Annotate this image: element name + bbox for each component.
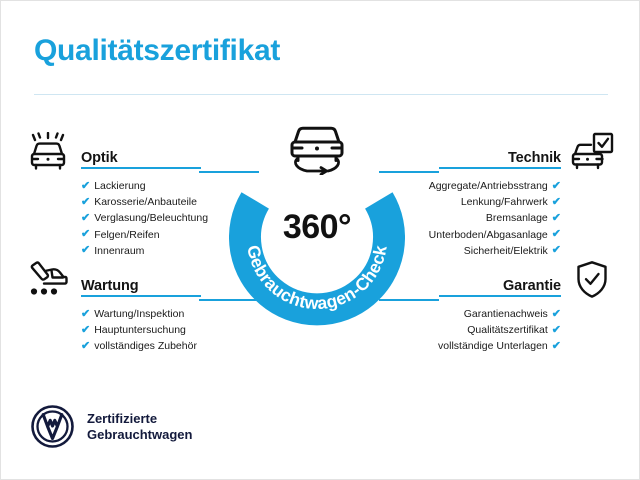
vw-logo	[31, 405, 74, 448]
list-item-label: vollständiges Zubehör	[94, 338, 197, 354]
list-item-label: Lackierung	[94, 178, 145, 194]
list-item-label: Garantienachweis	[464, 306, 548, 322]
check-icon: ✔	[552, 197, 561, 208]
shield-check-icon	[571, 260, 617, 300]
section-header-technik: Technik	[439, 145, 561, 169]
list-item: Qualitätszertifikat✔	[439, 322, 561, 338]
title-divider	[34, 94, 608, 95]
badge-360-gebrauchtwagen-check: Gebrauchtwagen-Check 360°	[229, 151, 405, 327]
check-icon: ✔	[552, 181, 561, 192]
check-icon: ✔	[552, 325, 561, 336]
check-icon: ✔	[552, 213, 561, 224]
section-rule-wartung	[81, 295, 201, 297]
list-item-label: Felgen/Reifen	[94, 227, 159, 243]
check-icon: ✔	[81, 181, 90, 192]
list-item: Sicherheit/Elektrik✔	[439, 243, 561, 259]
certificate-page: Qualitätszertifikat Optik ✔Lackierung ✔K…	[0, 0, 640, 480]
footer-brand: Zertifizierte Gebrauchtwagen	[31, 405, 192, 448]
list-item-label: Qualitätszertifikat	[467, 322, 548, 338]
check-icon: ✔	[81, 245, 90, 256]
page-title: Qualitätszertifikat	[34, 34, 280, 68]
car-shine-icon	[25, 132, 71, 172]
car-checkbox-icon	[569, 132, 615, 172]
list-item-label: Innenraum	[94, 243, 144, 259]
list-item: vollständige Unterlagen✔	[439, 338, 561, 354]
section-title-wartung: Wartung	[81, 278, 139, 294]
list-item-label: Lenkung/Fahrwerk	[461, 194, 548, 210]
section-optik: Optik ✔Lackierung ✔Karosserie/Anbauteile…	[81, 145, 201, 275]
list-item: ✔Lackierung	[81, 178, 201, 194]
section-title-garantie: Garantie	[503, 278, 561, 294]
list-item-label: Verglasung/Beleuchtung	[94, 210, 208, 226]
wrench-car-service-icon	[25, 260, 71, 300]
section-header-garantie: Garantie	[439, 273, 561, 297]
section-list-garantie: Garantienachweis✔ Qualitätszertifikat✔ v…	[439, 306, 561, 355]
check-icon: ✔	[552, 309, 561, 320]
footer-brand-text: Zertifizierte Gebrauchtwagen	[87, 411, 192, 443]
check-icon: ✔	[81, 213, 90, 224]
list-item: ✔Felgen/Reifen	[81, 227, 201, 243]
check-icon: ✔	[552, 245, 561, 256]
section-rule-garantie	[439, 295, 561, 297]
car-rotation-icon	[281, 121, 353, 175]
section-title-optik: Optik	[81, 150, 118, 166]
list-item: Lenkung/Fahrwerk✔	[439, 194, 561, 210]
section-rule-technik	[439, 167, 561, 169]
footer-line-2: Gebrauchtwagen	[87, 427, 192, 443]
list-item-label: vollständige Unterlagen	[438, 338, 548, 354]
list-item-label: Bremsanlage	[486, 210, 548, 226]
section-header-wartung: Wartung	[81, 273, 201, 297]
section-garantie: Garantie Garantienachweis✔ Qualitätszert…	[439, 273, 561, 371]
list-item-label: Unterboden/Abgasanlage	[429, 227, 548, 243]
list-item-label: Wartung/Inspektion	[94, 306, 184, 322]
badge-degree-label: 360°	[229, 208, 405, 247]
list-item: Garantienachweis✔	[439, 306, 561, 322]
list-item-label: Sicherheit/Elektrik	[464, 243, 548, 259]
check-icon: ✔	[81, 197, 90, 208]
list-item: ✔Hauptuntersuchung	[81, 322, 201, 338]
check-icon: ✔	[81, 309, 90, 320]
list-item-label: Karosserie/Anbauteile	[94, 194, 197, 210]
list-item: ✔vollständiges Zubehör	[81, 338, 201, 354]
section-list-optik: ✔Lackierung ✔Karosserie/Anbauteile ✔Verg…	[81, 178, 201, 259]
list-item-label: Aggregate/Antriebsstrang	[429, 178, 548, 194]
list-item: Unterboden/Abgasanlage✔	[439, 227, 561, 243]
list-item: ✔Karosserie/Anbauteile	[81, 194, 201, 210]
list-item: Bremsanlage✔	[439, 210, 561, 226]
section-header-optik: Optik	[81, 145, 201, 169]
check-icon: ✔	[552, 229, 561, 240]
check-icon: ✔	[81, 325, 90, 336]
list-item-label: Hauptuntersuchung	[94, 322, 186, 338]
section-rule-optik	[81, 167, 201, 169]
section-wartung: Wartung ✔Wartung/Inspektion ✔Hauptunters…	[81, 273, 201, 371]
list-item: Aggregate/Antriebsstrang✔	[439, 178, 561, 194]
section-list-technik: Aggregate/Antriebsstrang✔ Lenkung/Fahrwe…	[439, 178, 561, 259]
check-icon: ✔	[552, 341, 561, 352]
section-title-technik: Technik	[508, 150, 561, 166]
section-list-wartung: ✔Wartung/Inspektion ✔Hauptuntersuchung ✔…	[81, 306, 201, 355]
footer-line-1: Zertifizierte	[87, 411, 192, 427]
check-icon: ✔	[81, 341, 90, 352]
check-icon: ✔	[81, 229, 90, 240]
list-item: ✔Verglasung/Beleuchtung	[81, 210, 201, 226]
list-item: ✔Wartung/Inspektion	[81, 306, 201, 322]
section-technik: Technik Aggregate/Antriebsstrang✔ Lenkun…	[439, 145, 561, 275]
list-item: ✔Innenraum	[81, 243, 201, 259]
